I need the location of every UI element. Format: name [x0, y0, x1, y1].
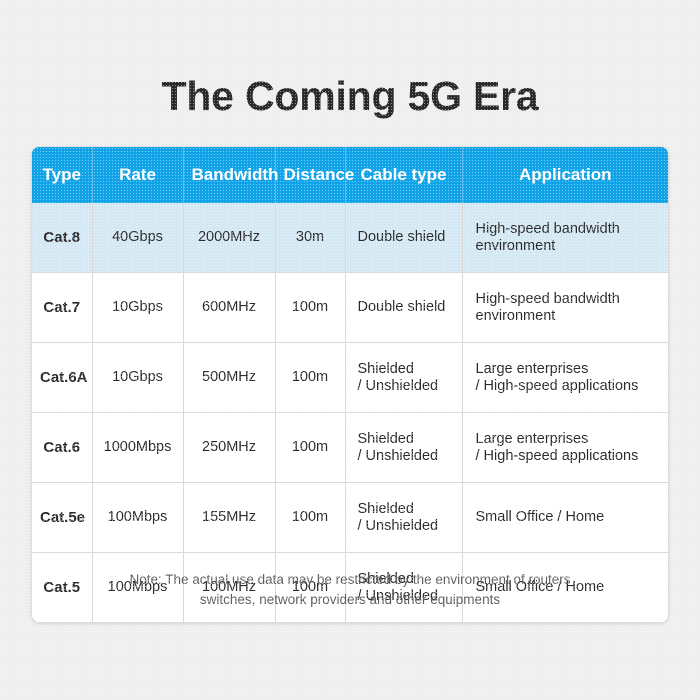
cell-line: / High-speed applications	[476, 378, 661, 395]
cell-type: Cat.6A	[32, 343, 92, 413]
cell-rate: 100Mbps	[92, 483, 183, 553]
cell-line: Large enterprises	[476, 431, 661, 448]
cell-bandwidth: 2000MHz	[183, 203, 275, 273]
cell-line: Double shield	[358, 299, 454, 316]
cell-type: Cat.6	[32, 413, 92, 483]
table-row: Cat.710Gbps600MHz100mDouble shieldHigh-s…	[32, 273, 668, 343]
table-body: Cat.840Gbps2000MHz30mDouble shieldHigh-s…	[32, 203, 668, 622]
table-row: Cat.840Gbps2000MHz30mDouble shieldHigh-s…	[32, 203, 668, 273]
cell-type: Cat.8	[32, 203, 92, 273]
cell-rate: 1000Mbps	[92, 413, 183, 483]
cell-rate: 10Gbps	[92, 343, 183, 413]
cell-line: / Unshielded	[358, 448, 454, 465]
cell-line: 100m	[284, 369, 337, 386]
cell-line: 100m	[284, 299, 337, 316]
table-header-row: Type Rate Bandwidth Distance Cable type …	[32, 147, 668, 203]
cell-cable-type: Shielded/ Unshielded	[345, 343, 462, 413]
cell-line: 30m	[284, 229, 337, 246]
column-header-type: Type	[32, 147, 92, 203]
cell-line: 155MHz	[192, 509, 267, 526]
cell-application: High-speed bandwidthenvironment	[462, 203, 668, 273]
cell-type: Cat.5e	[32, 483, 92, 553]
cell-line: 10Gbps	[101, 299, 175, 316]
cell-application: Large enterprises/ High-speed applicatio…	[462, 413, 668, 483]
cell-line: / Unshielded	[358, 518, 454, 535]
cell-line: Large enterprises	[476, 361, 661, 378]
cell-line: environment	[476, 308, 661, 325]
cell-rate: 10Gbps	[92, 273, 183, 343]
cell-line: Shielded	[358, 361, 454, 378]
cell-application: High-speed bandwidthenvironment	[462, 273, 668, 343]
cell-line: 100m	[284, 509, 337, 526]
table-row: Cat.5e100Mbps155MHz100mShielded/ Unshiel…	[32, 483, 668, 553]
cell-line: Cat.7	[40, 299, 84, 316]
table-row: Cat.6A10Gbps500MHz100mShielded/ Unshield…	[32, 343, 668, 413]
table-header: Type Rate Bandwidth Distance Cable type …	[32, 147, 668, 203]
spec-table-container: Type Rate Bandwidth Distance Cable type …	[32, 147, 668, 622]
cell-line: 250MHz	[192, 439, 267, 456]
cell-line: Cat.5e	[40, 509, 84, 526]
table-note: Note: The actual use data may be restric…	[50, 570, 650, 610]
column-header-bandwidth: Bandwidth	[183, 147, 275, 203]
cell-line: High-speed bandwidth	[476, 221, 661, 238]
cell-cable-type: Double shield	[345, 203, 462, 273]
column-header-application: Application	[462, 147, 668, 203]
cell-line: Cat.6	[40, 439, 84, 456]
column-header-rate: Rate	[92, 147, 183, 203]
cell-rate: 40Gbps	[92, 203, 183, 273]
cell-line: Double shield	[358, 229, 454, 246]
cell-bandwidth: 155MHz	[183, 483, 275, 553]
cell-line: Shielded	[358, 431, 454, 448]
cell-application: Large enterprises/ High-speed applicatio…	[462, 343, 668, 413]
cell-line: / High-speed applications	[476, 448, 661, 465]
cell-line: 10Gbps	[101, 369, 175, 386]
cell-distance: 100m	[275, 413, 345, 483]
cell-cable-type: Shielded/ Unshielded	[345, 413, 462, 483]
cell-type: Cat.7	[32, 273, 92, 343]
cell-line: 1000Mbps	[101, 439, 175, 456]
cell-cable-type: Shielded/ Unshielded	[345, 483, 462, 553]
cell-distance: 30m	[275, 203, 345, 273]
cell-cable-type: Double shield	[345, 273, 462, 343]
cell-line: 100Mbps	[101, 509, 175, 526]
cell-distance: 100m	[275, 273, 345, 343]
note-line-1: Note: The actual use data may be restric…	[50, 570, 650, 590]
cell-line: 500MHz	[192, 369, 267, 386]
cable-spec-table: Type Rate Bandwidth Distance Cable type …	[32, 147, 668, 622]
cell-bandwidth: 250MHz	[183, 413, 275, 483]
cell-distance: 100m	[275, 483, 345, 553]
cell-line: Small Office / Home	[476, 509, 661, 526]
cell-line: Cat.8	[40, 229, 84, 246]
cell-line: / Unshielded	[358, 378, 454, 395]
cell-bandwidth: 600MHz	[183, 273, 275, 343]
cell-application: Small Office / Home	[462, 483, 668, 553]
page-title: The Coming 5G Era	[0, 72, 700, 120]
cell-line: 600MHz	[192, 299, 267, 316]
column-header-distance: Distance	[275, 147, 345, 203]
cell-line: 2000MHz	[192, 229, 267, 246]
cell-line: 100m	[284, 439, 337, 456]
note-line-2: switches, network providers and other eq…	[50, 590, 650, 610]
cell-distance: 100m	[275, 343, 345, 413]
table-row: Cat.61000Mbps250MHz100mShielded/ Unshiel…	[32, 413, 668, 483]
column-header-cable-type: Cable type	[345, 147, 462, 203]
cell-line: High-speed bandwidth	[476, 291, 661, 308]
cell-line: Cat.6A	[40, 369, 84, 386]
cell-line: environment	[476, 238, 661, 255]
cell-line: 40Gbps	[101, 229, 175, 246]
cell-line: Shielded	[358, 501, 454, 518]
page-root: The Coming 5G Era Type Rate Bandwidth Di…	[0, 0, 700, 700]
cell-bandwidth: 500MHz	[183, 343, 275, 413]
